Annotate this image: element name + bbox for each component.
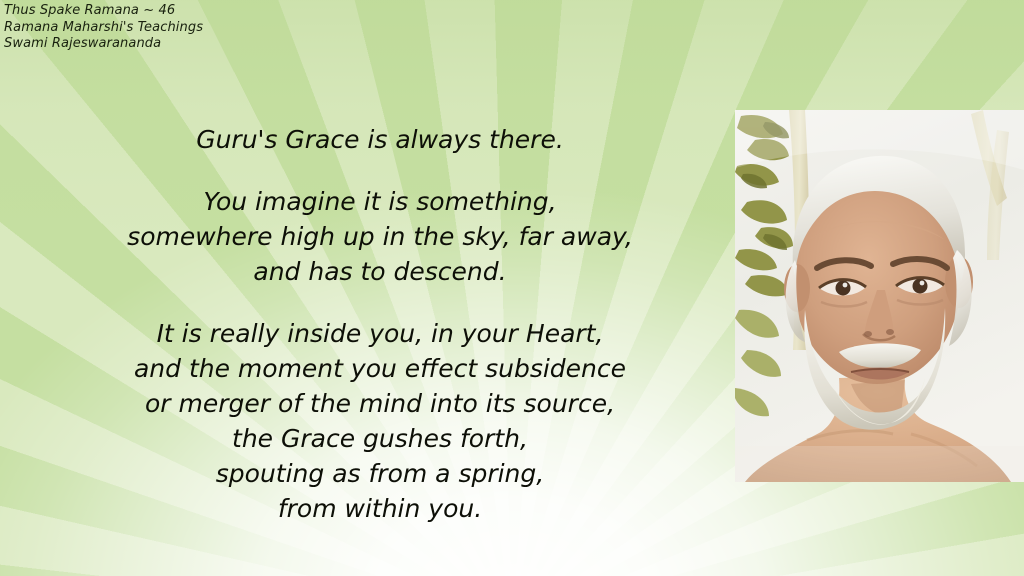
quote-line: and has to descend.	[0, 254, 760, 289]
header-line-series: Thus Spake Ramana ~ 46	[4, 3, 203, 20]
quote-line: Guru's Grace is always there.	[0, 122, 760, 157]
quote-line: somewhere high up in the sky, far away,	[0, 219, 760, 254]
quote-line: the Grace gushes forth,	[0, 421, 760, 456]
quote-line: You imagine it is something,	[0, 184, 760, 219]
portrait-illustration	[735, 110, 1024, 482]
portrait-photo-ramana-maharshi	[735, 110, 1024, 482]
slide-canvas: Thus Spake Ramana ~ 46 Ramana Maharshi's…	[0, 0, 1024, 576]
header-line-source: Ramana Maharshi's Teachings	[4, 20, 203, 37]
quote-line: It is really inside you, in your Heart,	[0, 316, 760, 351]
quote-stanza-2: You imagine it is something, somewhere h…	[0, 184, 760, 289]
quote-stanza-1: Guru's Grace is always there.	[0, 122, 760, 157]
header-credits: Thus Spake Ramana ~ 46 Ramana Maharshi's…	[4, 3, 203, 53]
header-line-author: Swami Rajeswarananda	[4, 36, 203, 53]
quote-block: Guru's Grace is always there. You imagin…	[0, 122, 760, 526]
quote-line: and the moment you effect subsidence	[0, 351, 760, 386]
quote-line: spouting as from a spring,	[0, 456, 760, 491]
quote-stanza-3: It is really inside you, in your Heart, …	[0, 316, 760, 526]
quote-line: from within you.	[0, 491, 760, 526]
quote-line: or merger of the mind into its source,	[0, 386, 760, 421]
